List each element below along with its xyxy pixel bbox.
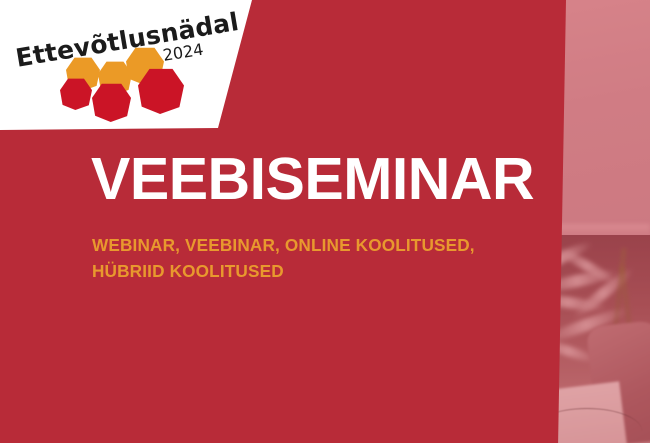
page-title: VEEBISEMINAR xyxy=(91,150,534,209)
logo-banner: Ettevõtlusnädal 2024 xyxy=(0,0,252,134)
subtitle-line-1: WEBINAR, VEEBINAR, ONLINE KOOLITUSED, xyxy=(92,232,475,258)
hex-red-middle xyxy=(92,83,131,122)
logo-wordmark: Ettevõtlusnädal xyxy=(14,7,241,73)
hex-red-right xyxy=(138,68,184,114)
subtitle: WEBINAR, VEEBINAR, ONLINE KOOLITUSED, HÜ… xyxy=(92,232,475,284)
promo-banner: Ettevõtlusnädal 2024 VEEBISEMINAR WEBINA… xyxy=(0,0,650,443)
subtitle-line-2: HÜBRIID KOOLITUSED xyxy=(92,258,475,284)
hex-orange-middle xyxy=(98,61,132,95)
hex-red-left xyxy=(60,78,92,110)
